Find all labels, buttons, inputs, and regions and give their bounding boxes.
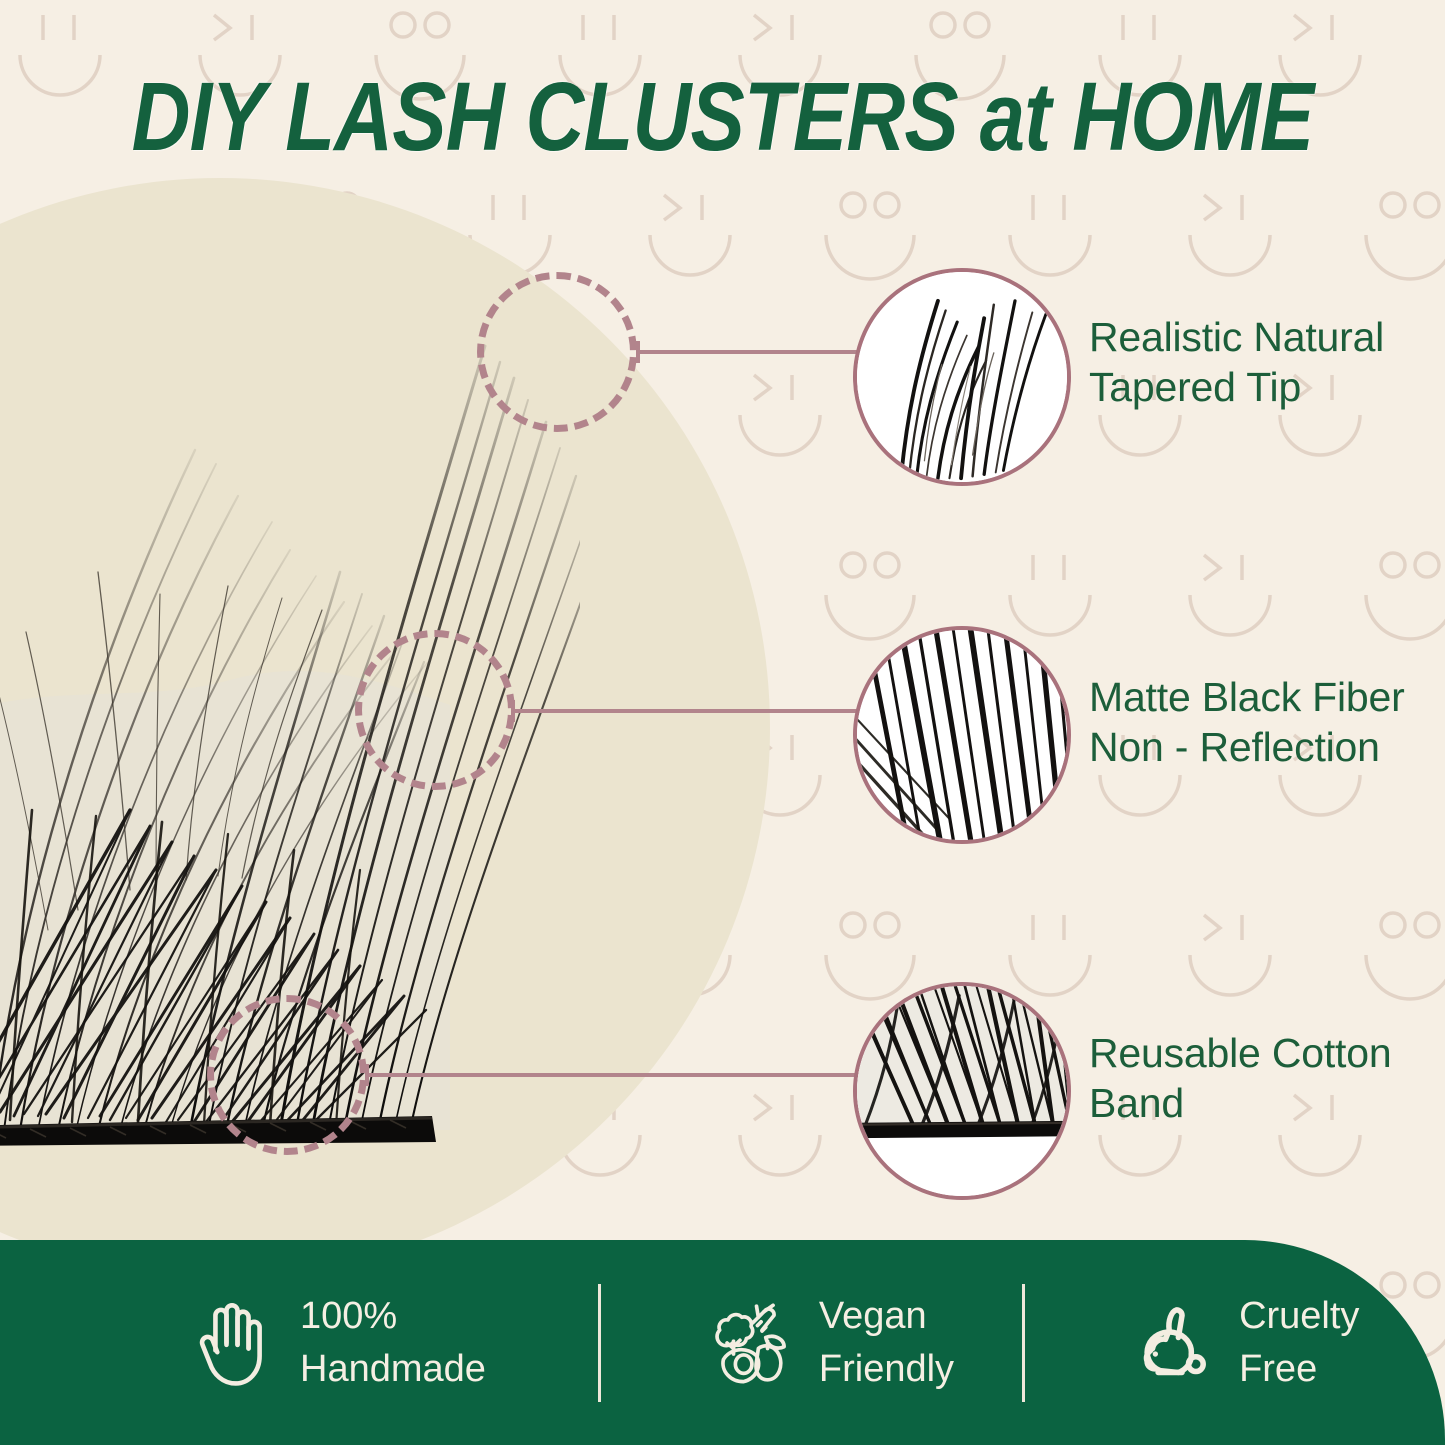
callout-label-matte-fiber-line2: Non - Reflection (1089, 722, 1439, 772)
badge-divider-2 (1022, 1284, 1025, 1402)
badge-cruelty-free: Cruelty Free (1125, 1290, 1359, 1395)
rabbit-icon (1125, 1297, 1217, 1389)
vegetables-icon (705, 1297, 797, 1389)
connector-line-tapered-tip (636, 350, 858, 354)
callout-label-tapered-tip: Realistic Natural Tapered Tip (1089, 312, 1429, 412)
callout-image-cotton-band (853, 982, 1071, 1200)
callout-image-tapered-tip (853, 268, 1071, 486)
callout-label-tapered-tip-line2: Tapered Tip (1089, 362, 1429, 412)
badge-handmade: 100% Handmade (186, 1290, 486, 1395)
infographic-page: DIY LASH CLUSTERS at HOME (0, 0, 1445, 1445)
badge-vegan: Vegan Friendly (705, 1290, 954, 1395)
badge-handmade-text: 100% Handmade (300, 1290, 486, 1395)
badge-cruelty-free-line1: Cruelty (1239, 1295, 1359, 1337)
callout-label-matte-fiber: Matte Black Fiber Non - Reflection (1089, 672, 1439, 772)
callout-label-cotton-band: Reusable Cotton Band (1089, 1028, 1429, 1128)
highlight-circle-cotton-band (207, 995, 367, 1155)
badge-vegan-line1: Vegan (819, 1295, 927, 1337)
badge-handmade-line2: Handmade (300, 1348, 486, 1390)
callout-image-matte-fiber (853, 626, 1071, 844)
badge-divider-1 (598, 1284, 601, 1402)
badge-vegan-text: Vegan Friendly (819, 1290, 954, 1395)
highlight-circle-tapered-tip (477, 272, 637, 432)
callout-label-cotton-band-line1: Reusable Cotton (1089, 1028, 1429, 1078)
badge-vegan-line2: Friendly (819, 1348, 954, 1390)
connector-line-matte-fiber (511, 709, 858, 713)
page-title: DIY LASH CLUSTERS at HOME (116, 68, 1330, 165)
badge-cruelty-free-text: Cruelty Free (1239, 1290, 1359, 1395)
callout-label-tapered-tip-line1: Realistic Natural (1089, 312, 1429, 362)
trust-badges-banner: 100% Handmade (0, 1240, 1445, 1445)
highlight-circle-matte-fiber (355, 630, 515, 790)
connector-line-cotton-band (365, 1073, 858, 1077)
badge-handmade-line1: 100% (300, 1295, 397, 1337)
callout-label-matte-fiber-line1: Matte Black Fiber (1089, 672, 1439, 722)
badge-cruelty-free-line2: Free (1239, 1348, 1317, 1390)
callout-label-cotton-band-line2: Band (1089, 1078, 1429, 1128)
hand-icon (186, 1297, 278, 1389)
